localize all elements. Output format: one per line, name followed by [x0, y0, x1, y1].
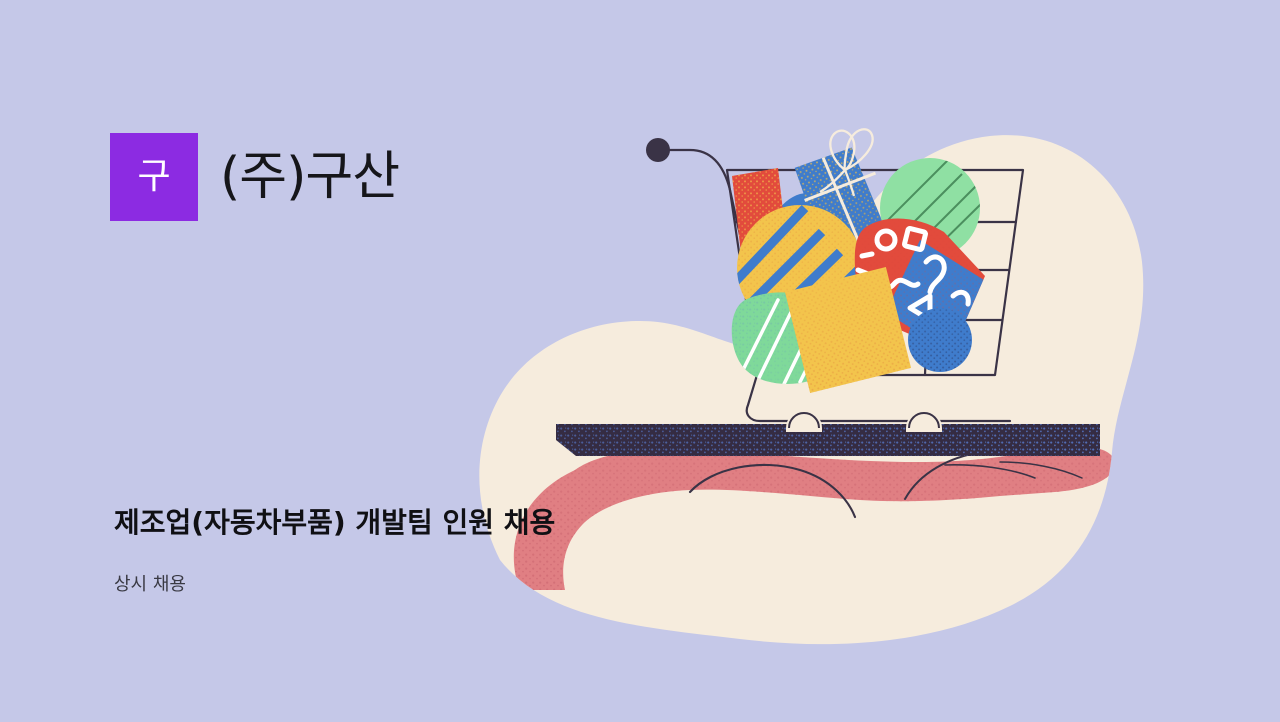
item-orange-yellow-square: [785, 267, 911, 393]
company-logo-badge: 구: [110, 133, 198, 221]
gift-ribbon-bow: [820, 129, 873, 196]
item-red-patterned-bag: [850, 210, 1000, 360]
employment-type-label: 상시 채용: [114, 574, 555, 596]
dark-shelf-bar: [556, 424, 1100, 456]
job-title: 제조업(자동차부품) 개발팀 인원 채용: [114, 505, 555, 540]
item-yellow-striped-ball: [735, 205, 863, 334]
item-green-blue-blob: [720, 280, 860, 400]
item-red-blue-bag: [732, 168, 843, 267]
cart-wheels: [786, 410, 942, 432]
banner-background: [0, 0, 1280, 722]
hand-holding-shopping-cart-illustration: [0, 0, 1280, 722]
company-name: (주)구산: [220, 151, 399, 203]
item-blue-ball: [908, 308, 972, 372]
item-blue-gift-box: [793, 129, 901, 291]
hand-shape: [514, 448, 1115, 590]
company-initial-icon: 구: [137, 159, 170, 195]
cart-contents: [720, 129, 1000, 400]
company-header: 구 (주)구산: [110, 133, 399, 221]
job-posting-text: 제조업(자동차부품) 개발팀 인원 채용 상시 채용: [114, 505, 555, 596]
cream-blob-shape: [479, 135, 1143, 644]
hand-group: [514, 448, 1115, 590]
job-posting-banner: 구 (주)구산 제조업(자동차부품) 개발팀 인원 채용 상시 채용: [0, 0, 1280, 722]
item-green-striped-ball: [880, 158, 985, 262]
cart-handle-knob: [646, 138, 670, 162]
shopping-cart: [668, 150, 1023, 421]
